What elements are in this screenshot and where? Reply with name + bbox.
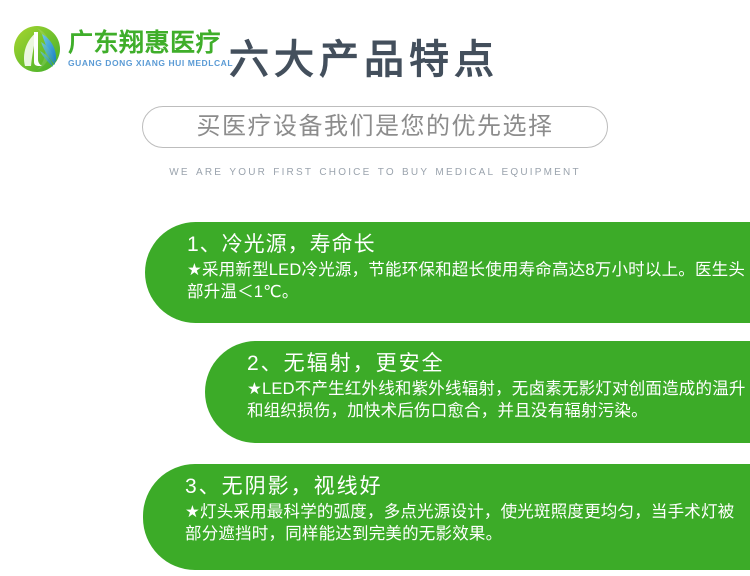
brand-name-cn: 广东翔惠医疗 (68, 30, 233, 57)
promo-banner-page: 广东翔惠医疗 GUANG DONG XIANG HUI MEDLCAL 六大产品… (0, 0, 750, 576)
english-tagline: We are your first choice to buy medical … (0, 163, 750, 179)
feature-panel-1: 1、冷光源，寿命长 ★采用新型LED冷光源，节能环保和超长使用寿命高达8万小时以… (145, 222, 750, 323)
feature-panel-3-title: 3、无阴影，视线好 (185, 473, 750, 501)
leaf-wave-circle-logo-icon (12, 24, 62, 74)
subtitle-pill: 买医疗设备我们是您的优先选择 (142, 106, 608, 148)
feature-panel-3: 3、无阴影，视线好 ★灯头采用最科学的弧度，多点光源设计，使光斑照度更均匀，当手… (143, 464, 750, 570)
brand-name-en: GUANG DONG XIANG HUI MEDLCAL (68, 59, 233, 68)
brand-wordmark: 广东翔惠医疗 GUANG DONG XIANG HUI MEDLCAL (68, 30, 233, 68)
page-title: 六大产品特点 (229, 38, 499, 82)
subtitle-pill-text: 买医疗设备我们是您的优先选择 (197, 115, 554, 139)
feature-panel-2-body: ★LED不产生红外线和紫外线辐射，无卤素无影灯对创面造成的温升和组织损伤，加快术… (247, 379, 750, 423)
feature-panel-3-body: ★灯头采用最科学的弧度，多点光源设计，使光斑照度更均匀，当手术灯被部分遮挡时，同… (185, 502, 750, 546)
brand-logo: 广东翔惠医疗 GUANG DONG XIANG HUI MEDLCAL (12, 18, 222, 80)
feature-panel-2: 2、无辐射，更安全 ★LED不产生红外线和紫外线辐射，无卤素无影灯对创面造成的温… (205, 341, 750, 443)
feature-panel-1-title: 1、冷光源，寿命长 (187, 231, 750, 259)
feature-panel-2-title: 2、无辐射，更安全 (247, 350, 750, 378)
feature-panel-1-body: ★采用新型LED冷光源，节能环保和超长使用寿命高达8万小时以上。医生头部升温＜1… (187, 260, 750, 304)
